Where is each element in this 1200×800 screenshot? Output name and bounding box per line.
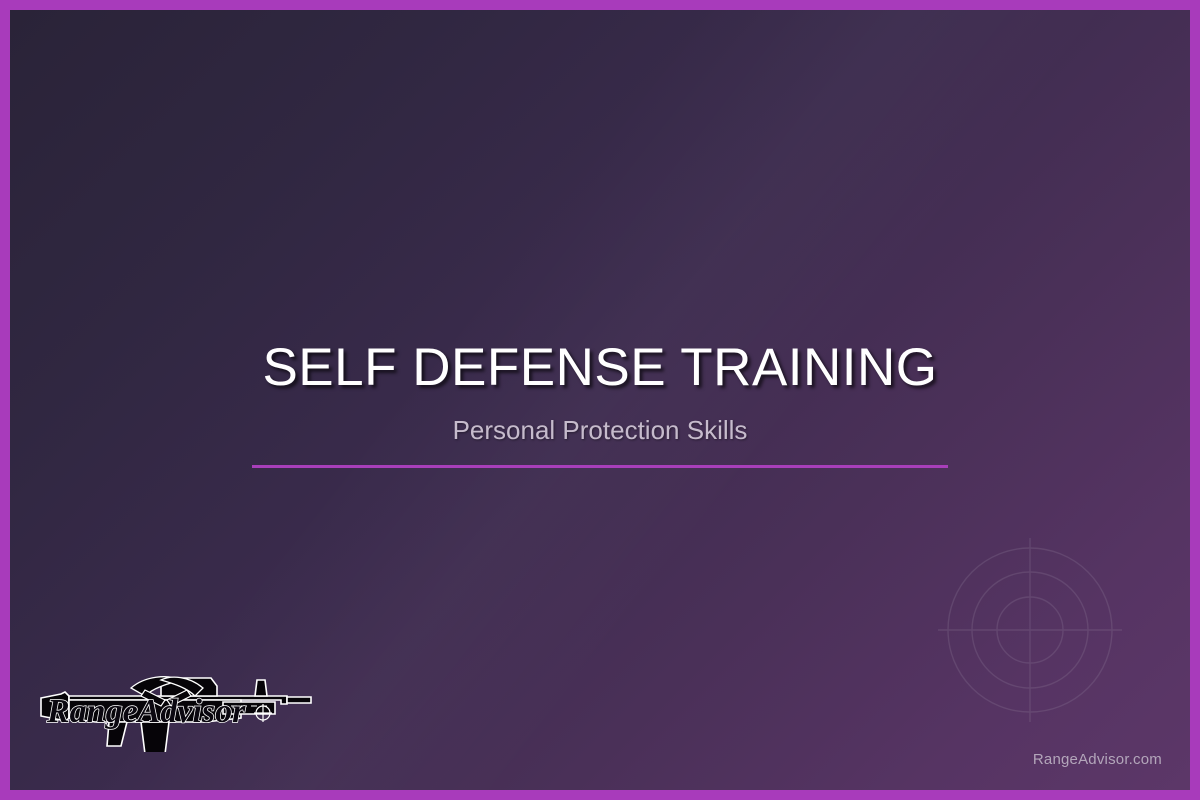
brand-wordmark: RangeAdvisor <box>46 693 246 730</box>
slide-canvas: SELF DEFENSE TRAINING Personal Protectio… <box>10 10 1190 790</box>
brand-logo: RangeAdvisor <box>35 666 315 752</box>
presentation-slide: SELF DEFENSE TRAINING Personal Protectio… <box>0 0 1200 800</box>
slide-title: SELF DEFENSE TRAINING <box>10 340 1190 396</box>
crosshair-target-icon <box>920 520 1140 740</box>
title-block: SELF DEFENSE TRAINING Personal Protectio… <box>10 340 1190 468</box>
title-divider <box>252 465 948 468</box>
slide-subtitle: Personal Protection Skills <box>10 416 1190 445</box>
footer-url: RangeAdvisor.com <box>1033 751 1162 768</box>
